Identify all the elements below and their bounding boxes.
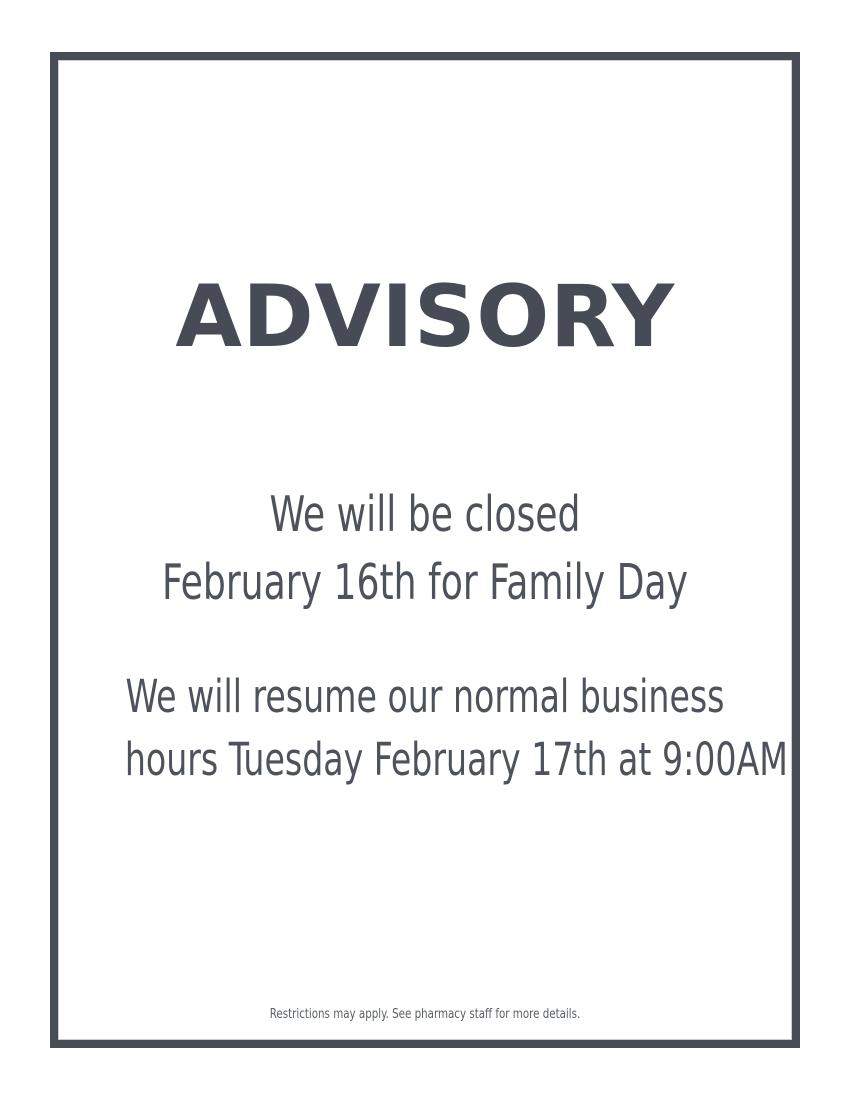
fineprint-disclaimer: Restrictions may apply. See pharmacy sta… [103, 1006, 747, 1024]
poster-inner-frame: ADVISORY We will be closed February 16th… [58, 60, 792, 1040]
secondary-notice-line-2: hours Tuesday February 17th at 9:00AM [125, 728, 725, 791]
secondary-notice-block: We will resume our normal business hours… [125, 665, 725, 791]
primary-notice-line-2: February 16th for Family Day [125, 549, 725, 617]
primary-notice-line-1: We will be closed [125, 481, 725, 549]
secondary-notice-line-1: We will resume our normal business [125, 665, 725, 728]
page-title: ADVISORY [59, 274, 791, 360]
primary-notice-block: We will be closed February 16th for Fami… [125, 481, 725, 617]
advisory-poster: ADVISORY We will be closed February 16th… [50, 52, 800, 1048]
